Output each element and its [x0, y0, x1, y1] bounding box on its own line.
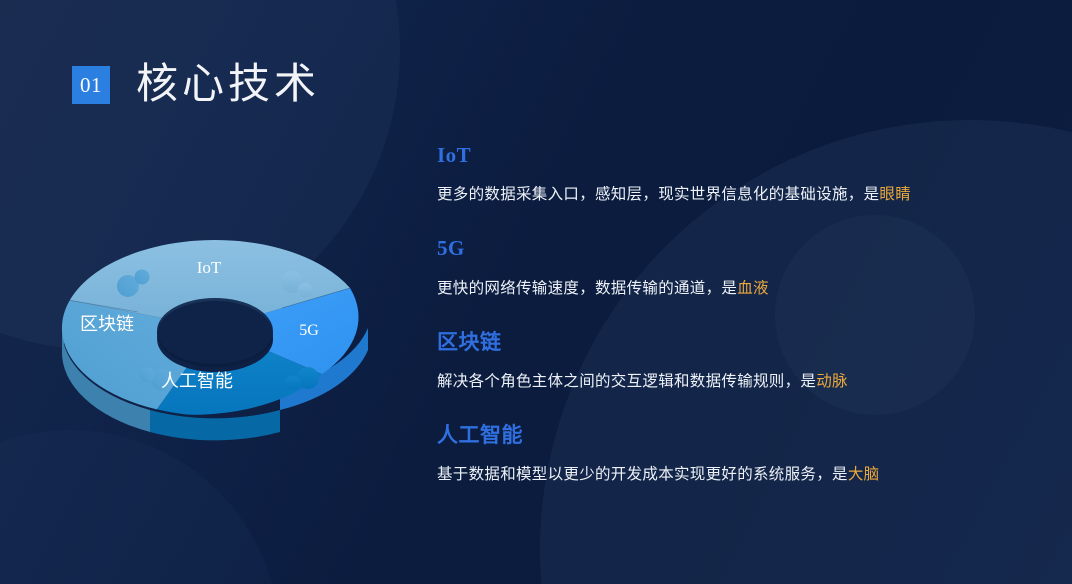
- content-accent-word: 大脑: [848, 466, 880, 483]
- content-accent-word: 动脉: [816, 373, 848, 390]
- donut-label-iot: IoT: [197, 258, 222, 277]
- content-body-iot: 更多的数据采集入口，感知层，现实世界信息化的基础设施，是眼睛: [437, 185, 1037, 205]
- donut-label-5g: 5G: [299, 322, 319, 339]
- content-body-blockchain: 解决各个角色主体之间的交互逻辑和数据传输规则，是动脉: [437, 372, 1037, 392]
- donut-inner-hole-rim: [157, 298, 273, 364]
- content-item-ai: 人工智能 基于数据和模型以更少的开发成本实现更好的系统服务，是大脑: [437, 423, 1037, 485]
- content-item-iot: IoT 更多的数据采集入口，感知层，现实世界信息化的基础设施，是眼睛: [437, 143, 1037, 205]
- content-body-text: 更快的网络传输速度，数据传输的通道，是: [437, 280, 737, 297]
- slide-header: 01 核心技术: [72, 36, 320, 134]
- content-heading-blockchain: 区块链: [437, 330, 1037, 355]
- donut-label-ai: 人工智能: [161, 371, 233, 391]
- content-heading-5g: 5G: [437, 236, 1037, 261]
- content-body-ai: 基于数据和模型以更少的开发成本实现更好的系统服务，是大脑: [437, 465, 1037, 485]
- section-index-badge: 01: [72, 66, 110, 104]
- content-body-text: 更多的数据采集入口，感知层，现实世界信息化的基础设施，是: [437, 186, 879, 203]
- content-heading-ai: 人工智能: [437, 423, 1037, 448]
- donut-svg: IoT 5G 人工智能 区块链: [50, 228, 380, 448]
- slide-canvas: 01 核心技术: [0, 0, 1072, 584]
- content-item-5g: 5G 更快的网络传输速度，数据传输的通道，是血液: [437, 236, 1037, 298]
- content-item-blockchain: 区块链 解决各个角色主体之间的交互逻辑和数据传输规则，是动脉: [437, 330, 1037, 392]
- decorative-circle-bottom-left: [0, 430, 280, 584]
- technology-description-list: IoT 更多的数据采集入口，感知层，现实世界信息化的基础设施，是眼睛 5G 更快…: [437, 143, 1037, 485]
- content-body-5g: 更快的网络传输速度，数据传输的通道，是血液: [437, 279, 1037, 299]
- content-accent-word: 眼睛: [879, 186, 911, 203]
- core-technology-donut-diagram: IoT 5G 人工智能 区块链: [50, 228, 380, 448]
- donut-label-blockchain: 区块链: [80, 314, 134, 334]
- page-title: 核心技术: [136, 64, 320, 106]
- content-accent-word: 血液: [737, 280, 769, 297]
- content-heading-iot: IoT: [437, 143, 1037, 168]
- content-body-text: 基于数据和模型以更少的开发成本实现更好的系统服务，是: [437, 466, 848, 483]
- content-body-text: 解决各个角色主体之间的交互逻辑和数据传输规则，是: [437, 373, 816, 390]
